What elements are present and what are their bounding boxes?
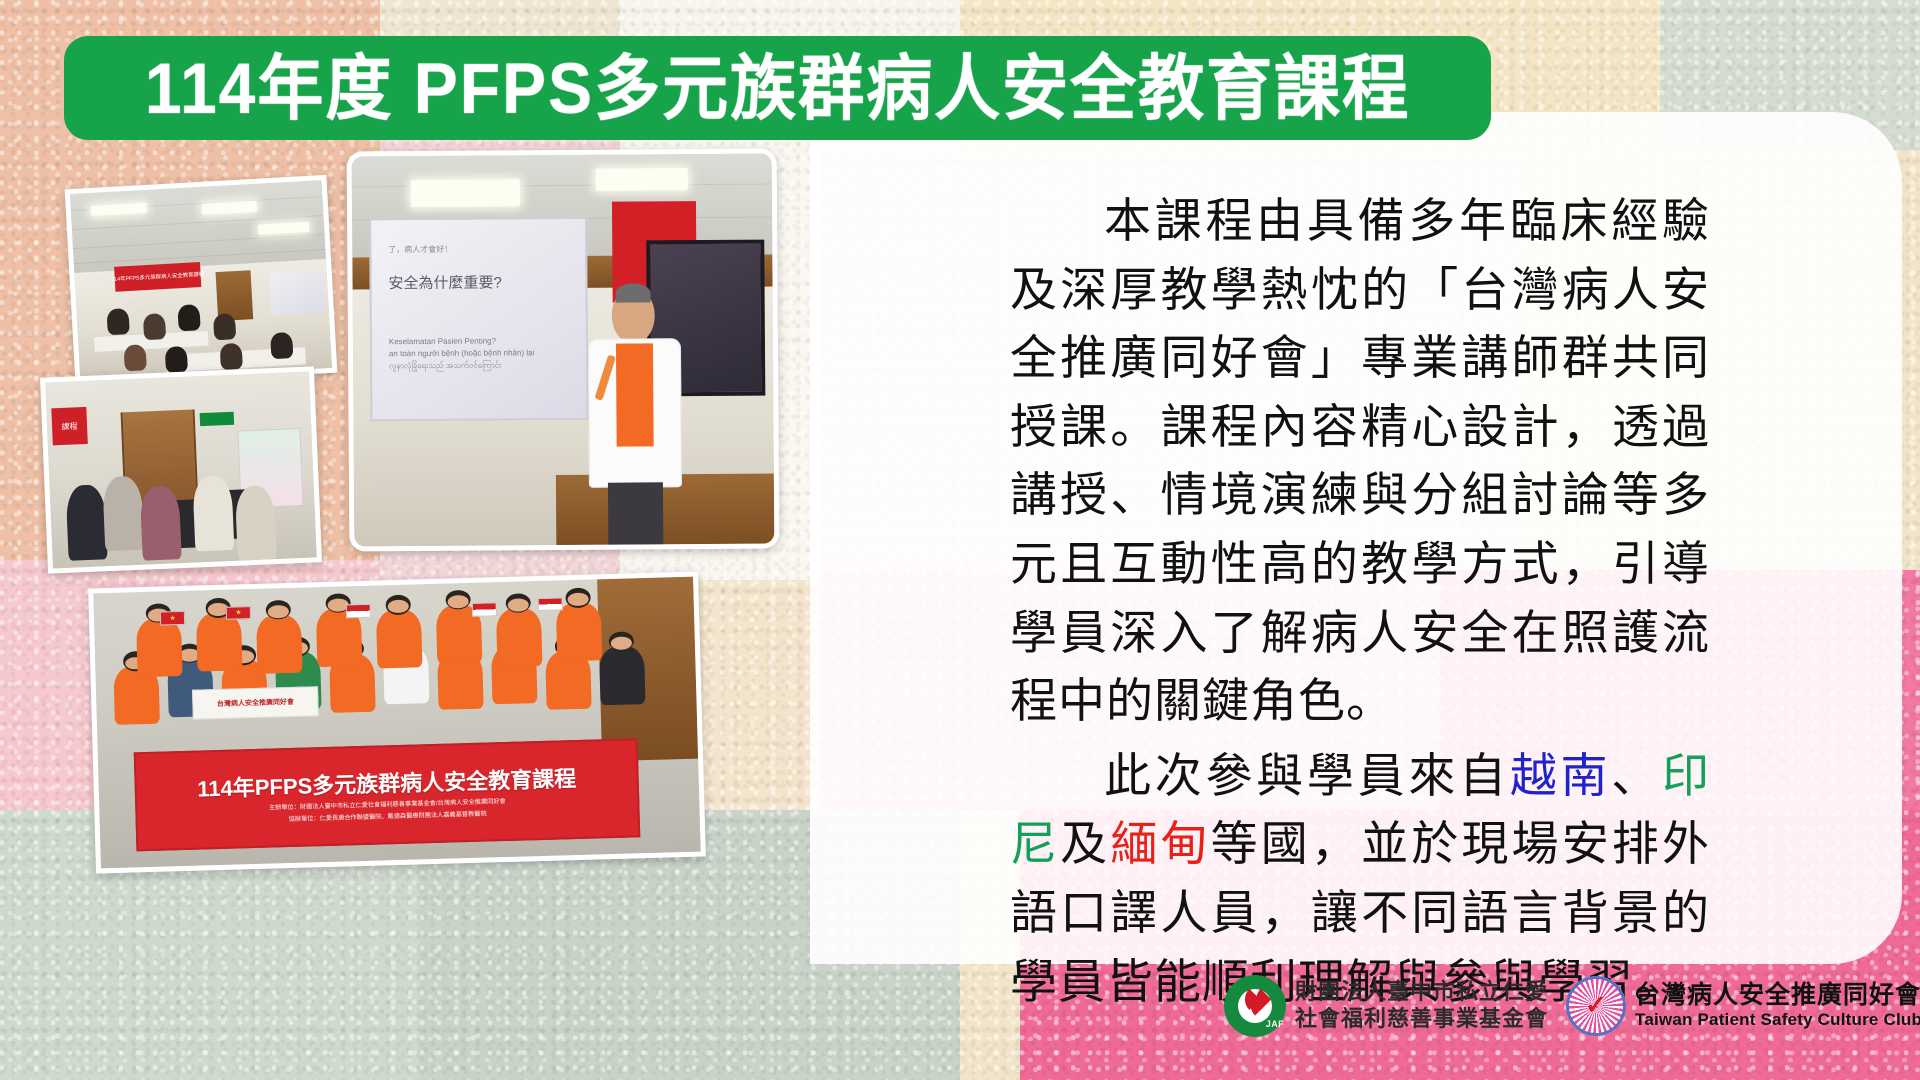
indonesia-flag	[472, 602, 498, 616]
attendee	[213, 313, 236, 340]
ceiling-light	[202, 201, 258, 215]
ceiling	[70, 180, 326, 273]
classroom-banner-text: 114年PFPS多元族群病人安全教育課程	[111, 270, 204, 283]
text-run: 及	[1060, 819, 1110, 871]
ceiling-light	[91, 203, 147, 216]
participant	[256, 614, 303, 673]
foundation-name: 財團法人臺中市私立仁愛 社會福利慈善事業基金會	[1295, 979, 1548, 1033]
event-banner-title: 114年PFPS多元族群病人安全教育課程	[197, 761, 577, 804]
wall-sign-text: 課程	[61, 420, 77, 432]
participant	[496, 608, 543, 667]
club-small-sign: 台灣病人安全推廣同好會	[192, 686, 319, 720]
trousers	[608, 483, 664, 545]
indonesia-flag	[346, 604, 372, 618]
ceiling-light	[258, 222, 309, 235]
foundation-logo: JAF 財團法人臺中市私立仁愛 社會福利慈善事業基金會	[1224, 975, 1548, 1037]
slide-heading: 安全為什麼重要?	[388, 271, 564, 293]
text-run: 越南	[1510, 751, 1611, 803]
club-name-chinese: 台灣病人安全推廣同好會	[1635, 982, 1920, 1010]
text-run: 緬甸	[1110, 819, 1210, 871]
title-banner: 114年度 PFPS多元族群病人安全教育課程	[64, 36, 1491, 140]
foundation-name-line2: 社會福利慈善事業基金會	[1295, 1006, 1548, 1033]
participant	[556, 603, 603, 662]
jaf-abbreviation: JAF	[1266, 1019, 1284, 1029]
group-commemorative-photo: 台灣病人安全推廣同好會 114年PFPS多元族群病人安全教育課程 主辦單位：財團…	[88, 572, 706, 874]
orange-shirt	[616, 344, 654, 447]
speaker-presentation-photo: 了，病人才會好！ 安全為什麼重要? Keselamatan Pasien Pen…	[347, 149, 780, 552]
participant	[136, 618, 183, 677]
attendee	[142, 313, 165, 340]
participant	[376, 609, 423, 668]
projection-slide: 了，病人才會好！ 安全為什麼重要? Keselamatan Pasien Pen…	[369, 217, 589, 421]
group-discussion-photo: 課程	[40, 366, 322, 573]
classroom-banner: 114年PFPS多元族群病人安全教育課程	[114, 262, 201, 291]
vietnam-flag	[226, 606, 252, 620]
participant	[599, 646, 646, 705]
text-run: 本課程由具備多年臨床經驗及深厚教學熱忱的「台灣病人安全推廣同好會」專業講師群共同…	[1010, 196, 1710, 728]
club-logo: 台灣病人安全推廣同好會 Taiwan Patient Safety Cultur…	[1566, 976, 1920, 1036]
speaker-head	[612, 287, 655, 344]
text-run: 、	[1611, 751, 1662, 803]
club-name-block: 台灣病人安全推廣同好會 Taiwan Patient Safety Cultur…	[1635, 982, 1920, 1030]
club-small-sign-text: 台灣病人安全推廣同好會	[217, 697, 294, 709]
slide-multilingual-text: Keselamatan Pasien Penting? an toàn ngườ…	[389, 335, 552, 373]
ceiling-light	[595, 168, 688, 191]
projection-screen	[269, 270, 327, 314]
attendee	[270, 332, 293, 359]
ceiling-light	[411, 180, 520, 207]
participant	[196, 613, 243, 672]
wall-sign: 課程	[52, 407, 88, 446]
attendee	[177, 304, 200, 331]
participant	[192, 475, 235, 551]
classroom-lecture-photo: 114年PFPS多元族群病人安全教育課程	[65, 175, 338, 387]
vietnam-flag	[160, 611, 186, 625]
paragraph-course-description: 本課程由具備多年臨床經驗及深厚教學熱忱的「台灣病人安全推廣同好會」專業講師群共同…	[1010, 188, 1710, 737]
jaf-heart-icon: JAF	[1224, 975, 1286, 1037]
slide-subtext: 了，病人才會好！	[388, 243, 564, 255]
logo-row: JAF 財團法人臺中市私立仁愛 社會福利慈善事業基金會 台灣病人安全推廣同好會 …	[1224, 975, 1920, 1037]
page-title: 114年度 PFPS多元族群病人安全教育課程	[145, 52, 1410, 123]
attendee	[164, 346, 187, 373]
speaker-person	[588, 287, 682, 545]
foundation-name-line1: 財團法人臺中市私立仁愛	[1295, 979, 1548, 1006]
event-red-banner: 114年PFPS多元族群病人安全教育課程 主辦單位：財團法人臺中市私立仁愛社會福…	[134, 738, 641, 851]
text-run: 此次參與學員來自	[1104, 751, 1510, 803]
exit-sign	[200, 412, 235, 426]
club-name-english: Taiwan Patient Safety Culture Club	[1635, 1010, 1920, 1030]
event-banner-coorganizers: 協辦單位：仁愛長庚合作聯盟醫院、戴德森醫療財團法人嘉義基督教醫院	[289, 811, 487, 826]
attendee	[124, 344, 147, 371]
description-text-block: 本課程由具備多年臨床經驗及深厚教學熱忱的「台灣病人安全推廣同好會」專業講師群共同…	[1010, 188, 1710, 1023]
indonesia-flag	[538, 597, 564, 611]
safety-first-badge-icon	[1566, 976, 1626, 1036]
attendee	[220, 343, 243, 370]
